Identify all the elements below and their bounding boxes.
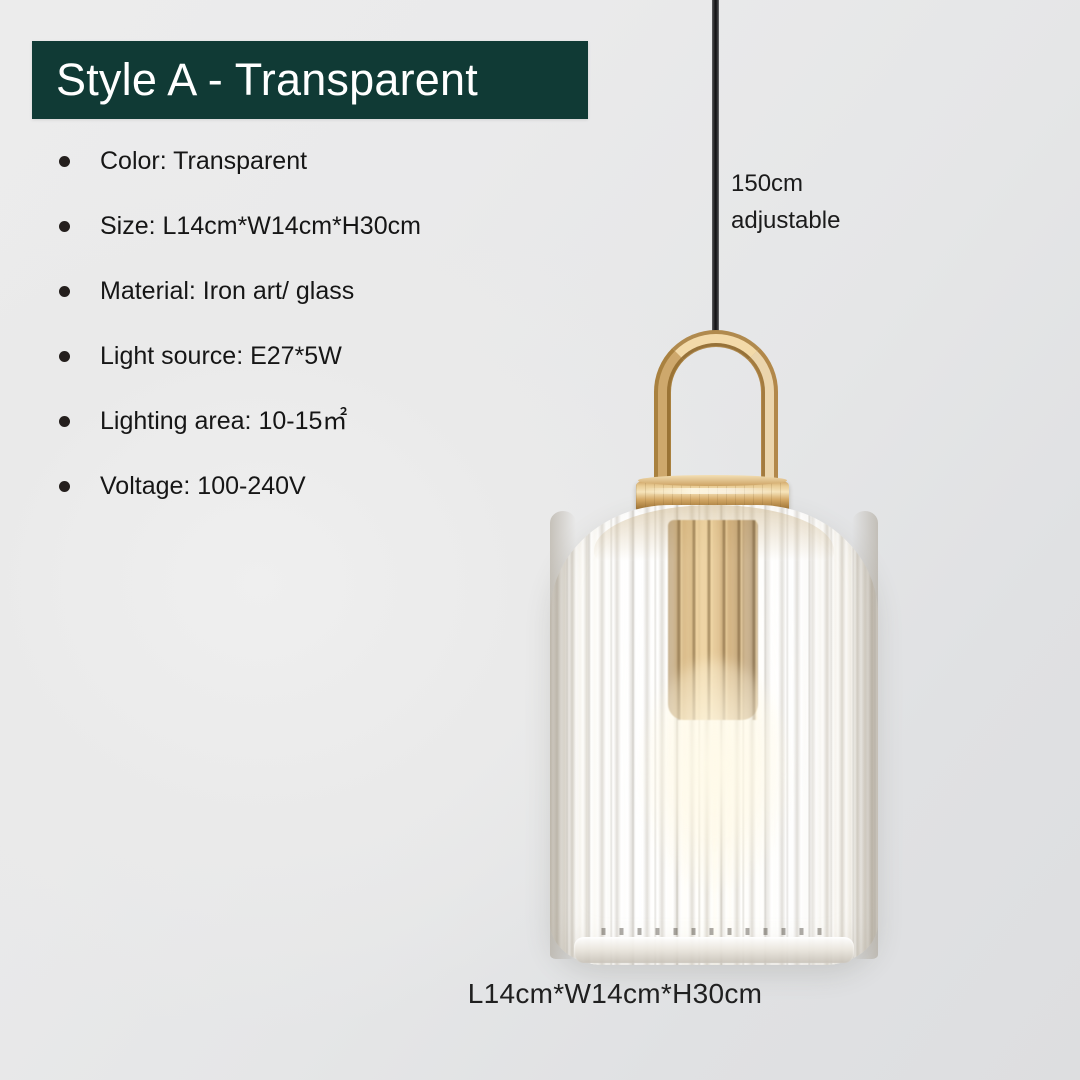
spec-item-size: Size: L14cm*W14cm*H30cm bbox=[55, 208, 575, 244]
spec-item-label: Lighting area: 10-15㎡ bbox=[100, 407, 347, 435]
shade-left-edge bbox=[550, 511, 576, 959]
product-image-card: Style A - Transparent Color: Transparent… bbox=[0, 0, 1080, 1080]
spec-item-label: Light source: E27*5W bbox=[100, 342, 342, 370]
cord-length-label: 150cm adjustable bbox=[731, 165, 840, 239]
spec-item-label: Color: Transparent bbox=[100, 147, 307, 175]
shade-base-rim bbox=[574, 937, 854, 963]
spec-item-label: Voltage: 100-240V bbox=[100, 472, 306, 500]
product-dimensions-text: L14cm*W14cm*H30cm bbox=[468, 978, 763, 1009]
shade-right-edge bbox=[852, 511, 878, 959]
bullet-icon bbox=[59, 156, 70, 167]
cord-length-adjustable: adjustable bbox=[731, 202, 840, 239]
bullet-icon bbox=[59, 221, 70, 232]
spec-item-color: Color: Transparent bbox=[55, 143, 575, 179]
collar-highlight bbox=[646, 488, 776, 494]
cord-length-value: 150cm bbox=[731, 165, 840, 202]
spec-item-label: Size: L14cm*W14cm*H30cm bbox=[100, 212, 421, 240]
spec-item-label: Material: Iron art/ glass bbox=[100, 277, 354, 305]
bullet-icon bbox=[59, 286, 70, 297]
style-title-text: Style A - Transparent bbox=[32, 54, 478, 106]
spec-item-voltage: Voltage: 100-240V bbox=[55, 468, 575, 504]
specification-list: Color: Transparent Size: L14cm*W14cm*H30… bbox=[55, 143, 575, 533]
bullet-icon bbox=[59, 351, 70, 362]
shade-base-reflection bbox=[594, 928, 834, 935]
bullet-icon bbox=[59, 416, 70, 427]
style-title-banner: Style A - Transparent bbox=[32, 41, 588, 119]
bullet-icon bbox=[59, 481, 70, 492]
lamp-cord bbox=[712, 0, 719, 344]
collar-top-edge bbox=[638, 475, 787, 486]
product-dimensions-caption: L14cm*W14cm*H30cm bbox=[0, 978, 1080, 1010]
spec-item-light-source: Light source: E27*5W bbox=[55, 338, 575, 374]
bulb-glow bbox=[640, 660, 790, 890]
spec-item-material: Material: Iron art/ glass bbox=[55, 273, 575, 309]
spec-item-lighting-area: Lighting area: 10-15㎡ bbox=[55, 403, 575, 439]
